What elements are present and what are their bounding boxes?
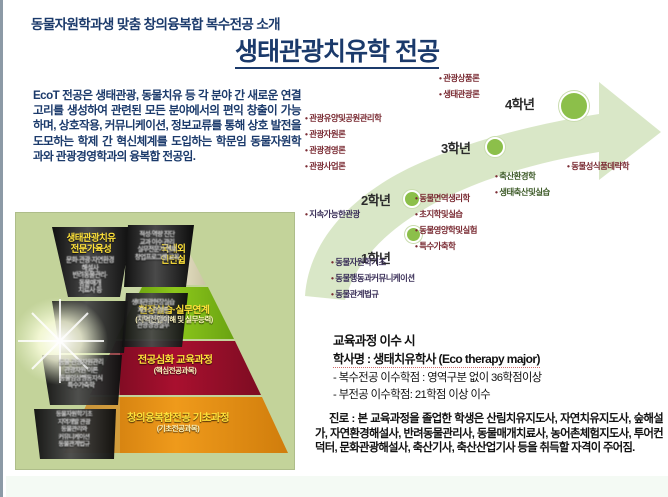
course-item: 특수가축학 [415,240,455,252]
pyramid-diagram: 국내외인턴쉽 현장실습·실무연계 (지역산업이해 및 실무능력) 전공심화 교육… [15,212,295,470]
year-label-4: 4학년 [505,94,534,113]
credit-requirement-item: - 복수전공 이수학점 : 영역구분 없이 36학점이상 [333,369,663,385]
course-item: 관광경영론 [305,144,345,156]
course-item: 동물관계법규 [331,288,379,300]
career-paragraph: 진로 : 본 교육과정을 졸업한 학생은 산림치유지도사, 자연치유지도사, 숲… [315,412,663,456]
slide-subtitle: 동물자원학과생 맞춤 창의융복합 복수전공 소개 [31,13,280,33]
course-item: 동물자원학기초 [331,256,386,268]
degree-name: 학사명 : 생태치유학사 (Eco therapy major) [333,350,540,368]
pyramid-graphic [16,213,294,469]
slide-canvas: 동물자원학과생 맞춤 창의융복합 복수전공 소개 생태관광치유학 전공 EcoT… [0,0,668,497]
course-item: 관광사업론 [305,160,345,172]
course-item: 동물성식품데략학 [567,160,629,172]
course-item: 생태관광론 [439,88,479,100]
year-dot-3 [485,137,505,157]
course-item: 초지학및실습 [415,208,463,220]
intro-paragraph: EcoT 전공은 생태관광, 동물치유 등 각 분야 간 새로운 연결고리를 생… [33,88,301,164]
course-item: 지속가능한관광 [305,208,360,220]
curriculum-requirements: 교육과정 이수 시 학사명 : 생태치유학사 (Eco therapy majo… [333,330,663,402]
curriculum-heading: 교육과정 이수 시 [333,330,663,349]
course-item: 관광유양및공원관리학 [305,112,381,124]
curriculum-roadmap: 1학년 2학년 3학년 4학년 지속가능한관광 동물자원학기초 동물행동과커뮤니… [299,60,668,310]
course-item: 동물행동과커뮤니케이션 [331,272,415,284]
footer-band [6,476,668,497]
course-item: 동물면역생리학 [415,192,470,204]
course-item: 관광자원론 [305,128,345,140]
year-label-3: 3학년 [441,138,470,157]
course-item: 생태축산및실습 [495,186,550,198]
course-item: 관광상품론 [439,72,479,84]
course-item: 축산환경학 [495,170,535,182]
credit-requirement-item: - 부전공 이수학점: 21학점 이상 이수 [333,386,663,402]
year-label-2: 2학년 [361,190,390,209]
course-item: 동물영양학및실험 [415,224,477,236]
year-dot-4 [559,91,589,121]
